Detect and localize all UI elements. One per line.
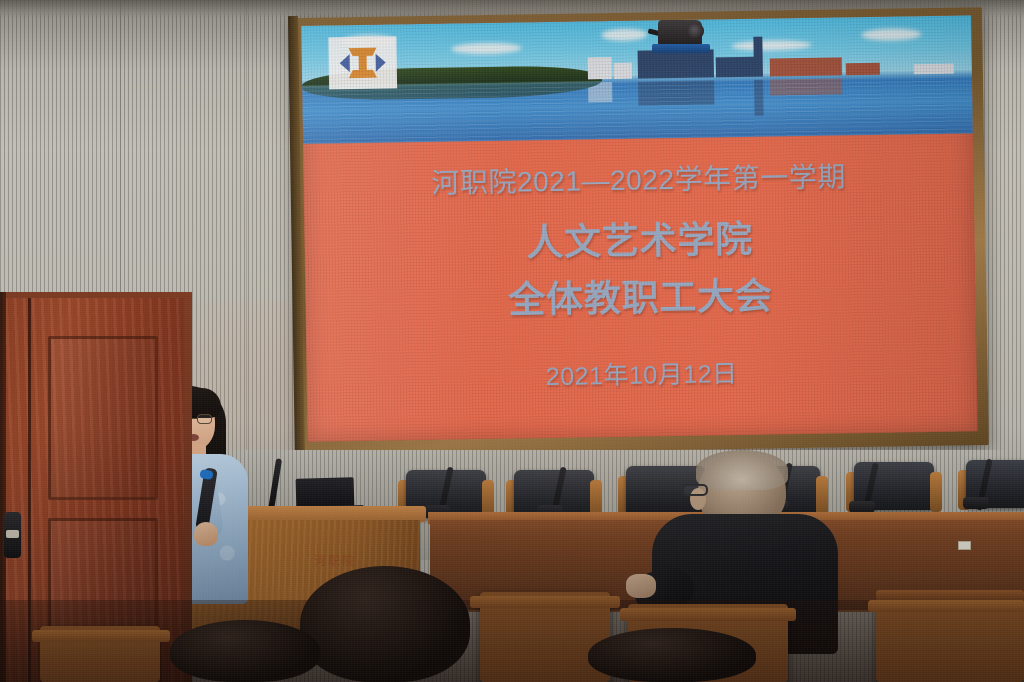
door-panel-upper (48, 336, 158, 500)
handheld-microphone-band (199, 469, 213, 480)
desk-name-card (958, 541, 971, 550)
slide-text-block: 河职院2021—2022学年第一学期 人文艺术学院 全体教职工大会 2021年1… (303, 133, 978, 441)
man-hand (626, 574, 656, 598)
audience-head (300, 566, 470, 682)
bench-rail (470, 596, 620, 608)
slide-line-meeting: 全体教职工大会 (305, 262, 976, 327)
audience-head (170, 620, 320, 682)
ptz-camera-icon (648, 14, 712, 58)
speaker-hand (194, 522, 218, 546)
man-hair (696, 450, 788, 490)
institution-logo-icon (328, 36, 397, 89)
bench-rail (32, 630, 170, 642)
man-glasses-icon (682, 484, 708, 496)
gooseneck-mic-base (963, 497, 989, 509)
screen-surface: 河职院2021—2022学年第一学期 人文艺术学院 全体教职工大会 2021年1… (301, 15, 977, 441)
table-edge (876, 590, 1024, 600)
slide-line-term: 河职院2021—2022学年第一学期 (303, 153, 974, 204)
bench-rail (620, 608, 796, 621)
conference-hall-photo: 河职院2021—2022学年第一学期 人文艺术学院 全体教职工大会 2021年1… (0, 0, 1024, 682)
door-handle-icon[interactable] (4, 512, 21, 558)
led-display-screen: 河职院2021—2022学年第一学期 人文艺术学院 全体教职工大会 2021年1… (292, 7, 989, 456)
slide-line-date: 2021年10月12日 (306, 350, 976, 397)
campus-panorama-image (301, 15, 973, 144)
slide-line-faculty: 人文艺术学院 (304, 205, 975, 270)
audience-head (588, 628, 756, 682)
bench-rail (868, 600, 1024, 612)
